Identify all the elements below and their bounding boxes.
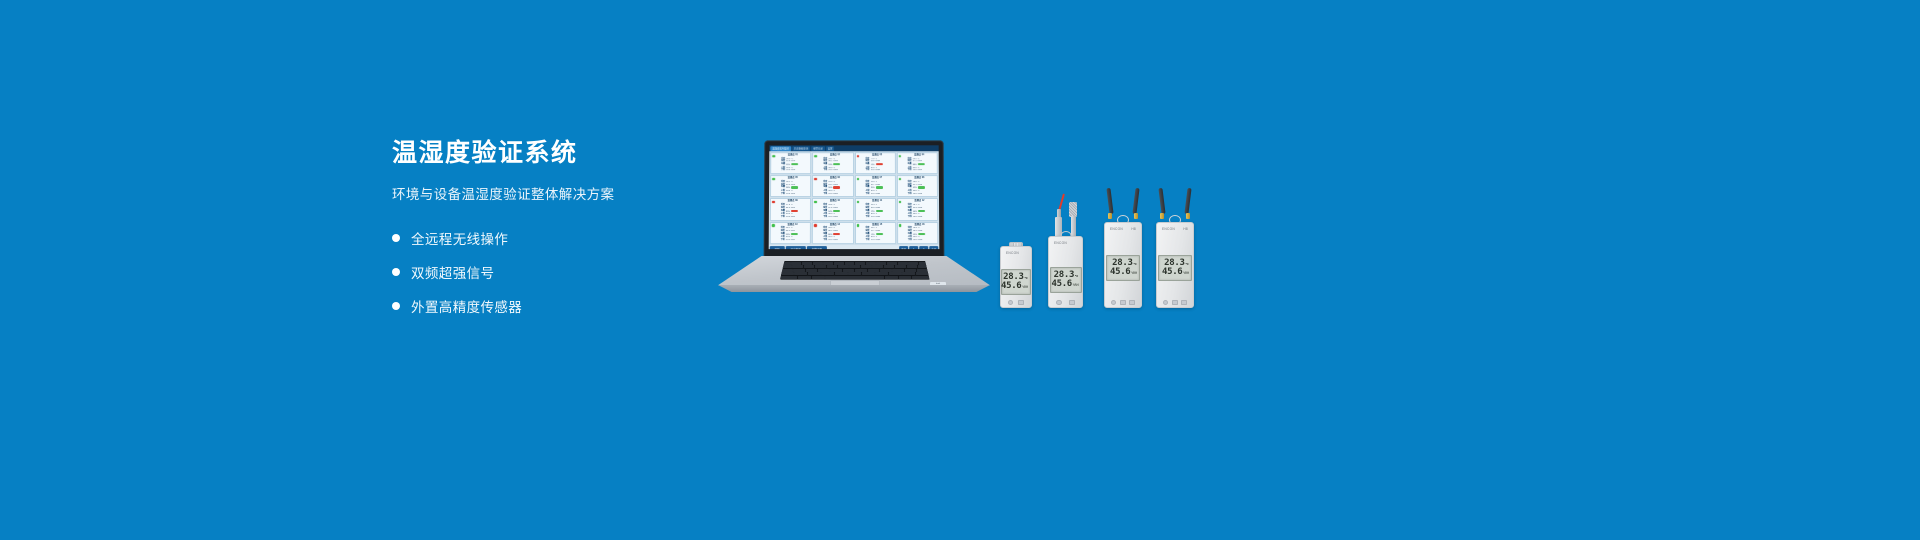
lcd-humidity-value: 45.6 bbox=[1001, 282, 1021, 291]
device-power-button[interactable] bbox=[1008, 300, 1014, 306]
device-mode-button[interactable] bbox=[1129, 300, 1135, 305]
sensor-card[interactable]: 监测点 14温度28.9 ℃湿度46.5 %RH电量86%上限30.0 ℃下限2… bbox=[812, 222, 853, 244]
sensor-lower-row: 下限20.0 %RH bbox=[903, 193, 936, 196]
keyboard-key[interactable] bbox=[823, 262, 833, 265]
keyboard-key[interactable] bbox=[868, 269, 880, 272]
status-led-icon bbox=[856, 155, 858, 157]
laptop-keyboard[interactable] bbox=[780, 261, 930, 280]
keyboard-key[interactable] bbox=[813, 262, 823, 265]
sensor-card[interactable]: 监测点 11温度28.3 ℃湿度46.0 %RH电量87%上限30.0 ℃下限2… bbox=[854, 198, 895, 220]
sensor-lower-row: 下限20.0 %RH bbox=[776, 193, 809, 196]
device-brand-row: ENCON bbox=[1049, 241, 1082, 245]
page-title: 温湿度验证系统 bbox=[392, 138, 722, 168]
hero-banner: 温湿度验证系统 环境与设备温湿度验证整体解决方案 全远程无线操作 双频超强信号 … bbox=[0, 0, 1920, 540]
sensor-lower-row: 下限20.0 %RH bbox=[818, 216, 851, 219]
keyboard-key[interactable] bbox=[917, 269, 929, 272]
status-led-icon bbox=[899, 155, 902, 157]
laptop-deck: Intel bbox=[718, 256, 990, 290]
keyboard-key[interactable] bbox=[808, 272, 821, 275]
laptop-screen: 温湿度实时监控 历史数据查询 报警记录 设置 监测点 01温度28.3 ℃湿度4… bbox=[769, 145, 940, 249]
antenna-connector-left-icon bbox=[1160, 213, 1165, 219]
keyboard-key[interactable] bbox=[880, 269, 892, 272]
alarm-settings-button[interactable]: 报警设置 bbox=[807, 246, 827, 249]
sensor-card[interactable]: 监测点 03温度27.9 ℃湿度44.8 %RH电量91%上限30.0 ℃下限2… bbox=[854, 152, 895, 174]
antenna-connector-right-icon bbox=[1186, 213, 1191, 219]
keyboard-key[interactable] bbox=[918, 265, 929, 268]
sensor-lower-row: 下限20.0 %RH bbox=[818, 193, 851, 196]
export-data-button[interactable]: 导出数据 bbox=[786, 246, 806, 249]
keyboard-key[interactable] bbox=[827, 265, 838, 268]
sensor-lower-row: 下限20.0 %RH bbox=[776, 239, 809, 242]
keyboard-key[interactable] bbox=[889, 272, 902, 275]
keyboard-key[interactable] bbox=[899, 276, 912, 279]
sensor-card[interactable]: 监测点 06温度29.0 ℃湿度43.5 %RH电量90%上限30.0 ℃下限2… bbox=[812, 175, 853, 197]
keyboard-key[interactable] bbox=[908, 262, 918, 265]
keyboard-key[interactable] bbox=[781, 272, 794, 275]
keyboard-key[interactable] bbox=[848, 272, 861, 275]
status-led-icon bbox=[856, 178, 858, 180]
feature-label-1: 全远程无线操作 bbox=[411, 228, 508, 248]
keyboard-key[interactable] bbox=[912, 276, 929, 279]
keyboard-key[interactable] bbox=[843, 269, 855, 272]
sensor-lower-row: 下限20.0 %RH bbox=[903, 239, 936, 242]
device-button-row bbox=[1001, 300, 1031, 306]
keyboard-key[interactable] bbox=[830, 269, 842, 272]
sensor-card[interactable]: 监测点 07温度28.4 ℃湿度46.7 %RH电量85%上限30.0 ℃下限2… bbox=[854, 175, 895, 197]
sensor-lower-row: 下限20.0 %RH bbox=[861, 216, 894, 219]
laptop-base: Intel bbox=[718, 256, 990, 300]
keyboard-key[interactable] bbox=[792, 265, 803, 268]
sensor-card[interactable]: 监测点 15温度28.2 ℃湿度45.7 %RH电量91%上限30.0 ℃下限2… bbox=[855, 222, 896, 244]
keyboard-key[interactable] bbox=[834, 262, 844, 265]
app-toolbar: 刷新 导出数据 报警设置 首页 1 2 末页 bbox=[769, 245, 940, 249]
device-mode-button[interactable] bbox=[1181, 300, 1187, 305]
device-button-row bbox=[1105, 300, 1141, 306]
lcd-humidity-unit: %RH bbox=[1131, 271, 1137, 276]
lcd-humidity-line: 45.6 %RH bbox=[1053, 280, 1079, 289]
keyboard-key[interactable] bbox=[781, 265, 792, 268]
device-lcd-display: 28.3 ℃ 45.6 %RH bbox=[1001, 269, 1031, 295]
device-brand: ENCON bbox=[1110, 227, 1123, 231]
status-led-icon bbox=[814, 201, 817, 203]
device-body: ENCON 28.3 ℃ 45.6 %RH bbox=[1000, 246, 1032, 308]
sensor-lower-row: 下限20.0 %RH bbox=[776, 216, 809, 219]
keyboard-key[interactable] bbox=[866, 262, 876, 265]
filter-stem-icon bbox=[1071, 216, 1076, 238]
sensor-lower-row: 下限20.0 %RH bbox=[903, 170, 936, 173]
status-led-icon bbox=[857, 224, 860, 227]
sensor-lower-row: 下限20.0 %RH bbox=[861, 239, 894, 242]
keyboard-key[interactable] bbox=[919, 262, 929, 265]
keyboard-key[interactable] bbox=[812, 276, 825, 279]
sensor-card[interactable]: 监测点 13温度28.1 ℃湿度44.9 %RH电量93%上限30.0 ℃下限2… bbox=[770, 222, 811, 244]
sensor-card[interactable]: 监测点 09温度27.8 ℃湿度44.3 %RH电量89%上限30.0 ℃下限2… bbox=[770, 198, 811, 220]
sensor-card[interactable]: 监测点 04温度28.5 ℃湿度47.1 %RH电量88%上限30.0 ℃下限2… bbox=[897, 152, 938, 174]
device-button-row bbox=[1157, 300, 1193, 306]
sensor-card-grid: 监测点 01温度28.3 ℃湿度45.6 %RH电量95%上限30.0 ℃下限2… bbox=[769, 151, 940, 245]
keyboard-key[interactable] bbox=[781, 276, 798, 279]
sensor-lower-row: 下限20.0 %RH bbox=[818, 239, 851, 242]
tab-realtime[interactable]: 温湿度实时监控 bbox=[770, 146, 791, 151]
bullet-dot-icon bbox=[392, 234, 400, 242]
lcd-humidity-unit: %RH bbox=[1022, 285, 1028, 290]
laptop-lid: 温湿度实时监控 历史数据查询 报警记录 设置 监测点 01温度28.3 ℃湿度4… bbox=[764, 140, 945, 260]
device-button-row bbox=[1049, 300, 1082, 306]
feature-item-3: 外置高精度传感器 bbox=[392, 293, 722, 319]
keyboard-key[interactable] bbox=[798, 276, 811, 279]
status-led-icon bbox=[814, 224, 817, 227]
device-data-logger-basic: ENCON 28.3 ℃ 45.6 %RH bbox=[1000, 246, 1032, 308]
lcd-humidity-line: 45.6 %RH bbox=[1161, 268, 1189, 277]
keyboard-key[interactable] bbox=[849, 265, 860, 268]
feature-label-3: 外置高精度传感器 bbox=[411, 296, 522, 316]
keyboard-key[interactable] bbox=[845, 262, 855, 265]
device-power-button[interactable] bbox=[1056, 300, 1062, 306]
device-function-button[interactable] bbox=[1069, 300, 1075, 305]
laptop-product-image: 温湿度实时监控 历史数据查询 报警记录 设置 监测点 01温度28.3 ℃湿度4… bbox=[718, 140, 990, 300]
keyboard-key[interactable] bbox=[895, 265, 906, 268]
lcd-humidity-value: 45.6 bbox=[1162, 268, 1182, 277]
laptop-front-edge bbox=[718, 285, 990, 292]
sensor-lower-row: 下限20.0 %RH bbox=[860, 170, 893, 173]
keyboard-key[interactable] bbox=[884, 265, 895, 268]
sensor-card[interactable]: 监测点 08温度28.0 ℃湿度45.1 %RH电量92%上限30.0 ℃下限2… bbox=[897, 175, 938, 197]
bullet-dot-icon bbox=[392, 302, 400, 310]
sensor-lower-row: 下限20.0 %RH bbox=[860, 193, 893, 196]
device-lineup: ENCON 28.3 ℃ 45.6 %RH bbox=[1000, 178, 1240, 308]
tab-settings[interactable]: 设置 bbox=[826, 146, 835, 151]
status-led-icon bbox=[899, 201, 902, 203]
device-function-button[interactable] bbox=[1172, 300, 1178, 305]
sensor-lower-row: 下限20.0 %RH bbox=[903, 216, 936, 219]
pager-first[interactable]: 首页 bbox=[899, 246, 908, 249]
lcd-temperature-unit: ℃ bbox=[1133, 262, 1137, 267]
keyboard-key[interactable] bbox=[835, 272, 848, 275]
keyboard-key[interactable] bbox=[861, 265, 872, 268]
lcd-temperature-unit: ℃ bbox=[1024, 276, 1028, 281]
feature-list: 全远程无线操作 双频超强信号 外置高精度传感器 bbox=[392, 225, 722, 319]
keyboard-key[interactable] bbox=[862, 272, 875, 275]
sensor-lower-row: 下限20.0 %RH bbox=[818, 170, 851, 173]
device-brand-row: ENCON H8 bbox=[1157, 227, 1193, 231]
keyboard-key[interactable] bbox=[781, 269, 793, 272]
keyboard-key[interactable] bbox=[892, 269, 904, 272]
keyboard-key[interactable] bbox=[781, 262, 791, 265]
keyboard-key[interactable] bbox=[818, 269, 830, 272]
keyboard-key[interactable] bbox=[872, 265, 883, 268]
keyboard-key[interactable] bbox=[875, 272, 888, 275]
status-led-icon bbox=[772, 224, 775, 227]
status-led-icon bbox=[857, 201, 860, 203]
keyboard-key[interactable] bbox=[802, 262, 812, 265]
keyboard-key[interactable] bbox=[855, 269, 867, 272]
status-led-icon bbox=[899, 224, 902, 227]
pager-page-1[interactable]: 1 bbox=[909, 246, 918, 249]
status-led-icon bbox=[899, 178, 902, 180]
status-led-icon bbox=[772, 201, 775, 203]
keyboard-row bbox=[781, 265, 929, 268]
keyboard-key[interactable] bbox=[898, 262, 908, 265]
status-led-icon bbox=[814, 178, 817, 180]
feature-item-1: 全远程无线操作 bbox=[392, 225, 722, 251]
bullet-dot-icon bbox=[392, 268, 400, 276]
filter-mesh-icon bbox=[1069, 202, 1077, 217]
tab-history[interactable]: 历史数据查询 bbox=[792, 146, 810, 151]
device-brand: ENCON bbox=[1162, 227, 1175, 231]
sensor-card[interactable]: 监测点 12温度28.7 ℃湿度45.4 %RH电量90%上限30.0 ℃下限2… bbox=[897, 198, 938, 220]
keyboard-key[interactable] bbox=[876, 262, 886, 265]
sensor-card[interactable]: 监测点 02温度28.1 ℃湿度46.2 %RH电量93%上限30.0 ℃下限2… bbox=[812, 152, 853, 174]
device-body: ENCON 28.3 ℃ 45.6 %RH bbox=[1048, 236, 1083, 308]
lcd-humidity-line: 45.6 %RH bbox=[1109, 268, 1137, 277]
keyboard-key[interactable] bbox=[804, 265, 815, 268]
keyboard-key[interactable] bbox=[916, 272, 929, 275]
device-function-button[interactable] bbox=[1018, 300, 1024, 305]
keyboard-key[interactable] bbox=[838, 265, 849, 268]
keyboard-key[interactable] bbox=[815, 265, 826, 268]
device-brand: ENCON bbox=[1006, 251, 1019, 255]
sensor-card[interactable]: 监测点 10温度28.6 ℃湿度47.8 %RH电量94%上限30.0 ℃下限2… bbox=[812, 198, 853, 220]
device-data-logger-external-probe: ENCON 28.3 ℃ 45.6 %RH bbox=[1048, 236, 1083, 308]
device-wireless-logger-2: ENCON H8 28.3 ℃ 45.6 %RH bbox=[1156, 222, 1194, 308]
keyboard-key[interactable] bbox=[793, 269, 805, 272]
antenna-right-icon bbox=[1132, 188, 1139, 214]
feature-label-2: 双频超强信号 bbox=[411, 262, 494, 282]
device-lcd-display: 28.3 ℃ 45.6 %RH bbox=[1158, 255, 1192, 281]
lcd-humidity-value: 45.6 bbox=[1110, 268, 1130, 277]
keyboard-row bbox=[781, 262, 929, 265]
keyboard-key[interactable] bbox=[821, 272, 834, 275]
keyboard-key[interactable] bbox=[887, 262, 897, 265]
refresh-button[interactable]: 刷新 bbox=[770, 246, 785, 249]
device-brand: ENCON bbox=[1054, 241, 1067, 245]
hero-subtitle: 环境与设备温湿度验证整体解决方案 bbox=[392, 186, 722, 204]
status-led-icon bbox=[772, 178, 775, 180]
keyboard-key[interactable] bbox=[794, 272, 807, 275]
device-power-button[interactable] bbox=[1163, 300, 1169, 306]
feature-item-2: 双频超强信号 bbox=[392, 259, 722, 285]
lcd-humidity-value: 45.6 bbox=[1051, 280, 1071, 289]
device-brand-row: ENCON H8 bbox=[1105, 227, 1141, 231]
keyboard-key[interactable] bbox=[806, 269, 818, 272]
keyboard-key[interactable] bbox=[855, 262, 865, 265]
sensor-lower-row: 下限20.0 %RH bbox=[776, 170, 809, 173]
antenna-connector-left-icon bbox=[1108, 213, 1113, 219]
device-power-button[interactable] bbox=[1111, 300, 1117, 306]
tab-alarms[interactable]: 报警记录 bbox=[811, 146, 825, 151]
sensor-card[interactable]: 监测点 16温度28.4 ℃湿度46.9 %RH电量95%上限30.0 ℃下限2… bbox=[897, 222, 938, 244]
antenna-connector-right-icon bbox=[1134, 213, 1139, 219]
device-model: H8 bbox=[1131, 227, 1136, 231]
antenna-left-icon bbox=[1106, 188, 1113, 214]
keyboard-row bbox=[781, 276, 929, 279]
device-model: H8 bbox=[1183, 227, 1188, 231]
lcd-humidity-line: 45.6 %RH bbox=[1004, 282, 1028, 291]
antenna-left-icon bbox=[1158, 188, 1165, 214]
keyboard-key[interactable] bbox=[907, 265, 918, 268]
keyboard-row bbox=[781, 272, 929, 275]
keyboard-key[interactable] bbox=[825, 276, 884, 279]
device-lcd-display: 28.3 ℃ 45.6 %RH bbox=[1050, 267, 1082, 293]
keyboard-key[interactable] bbox=[902, 272, 915, 275]
hero-copy: 温湿度验证系统 环境与设备温湿度验证整体解决方案 全远程无线操作 双频超强信号 … bbox=[392, 138, 722, 327]
device-lcd-display: 28.3 ℃ 45.6 %RH bbox=[1106, 255, 1140, 281]
device-brand-row: ENCON bbox=[1001, 251, 1031, 255]
device-function-button[interactable] bbox=[1120, 300, 1126, 305]
device-wireless-logger-1: ENCON H8 28.3 ℃ 45.6 %RH bbox=[1104, 222, 1142, 308]
device-body: ENCON H8 28.3 ℃ 45.6 %RH bbox=[1104, 222, 1142, 308]
sensor-card[interactable]: 监测点 05温度28.2 ℃湿度45.9 %RH电量96%上限30.0 ℃下限2… bbox=[770, 175, 811, 197]
pager-last[interactable]: 末页 bbox=[929, 246, 938, 249]
status-led-icon bbox=[772, 155, 775, 157]
status-led-icon bbox=[814, 155, 816, 157]
keyboard-key[interactable] bbox=[905, 269, 917, 272]
lcd-temperature-unit: ℃ bbox=[1185, 262, 1189, 267]
keyboard-key[interactable] bbox=[885, 276, 898, 279]
keyboard-key[interactable] bbox=[791, 262, 801, 265]
antenna-right-icon bbox=[1184, 188, 1191, 214]
lcd-humidity-unit: %RH bbox=[1183, 271, 1189, 276]
keyboard-row bbox=[781, 269, 929, 272]
lcd-humidity-unit: %RH bbox=[1073, 283, 1079, 288]
device-body: ENCON H8 28.3 ℃ 45.6 %RH bbox=[1156, 222, 1194, 308]
sensor-card[interactable]: 监测点 01温度28.3 ℃湿度45.6 %RH电量95%上限30.0 ℃下限2… bbox=[770, 152, 811, 174]
lcd-temperature-unit: ℃ bbox=[1075, 274, 1079, 279]
pager-page-2[interactable]: 2 bbox=[919, 246, 928, 249]
